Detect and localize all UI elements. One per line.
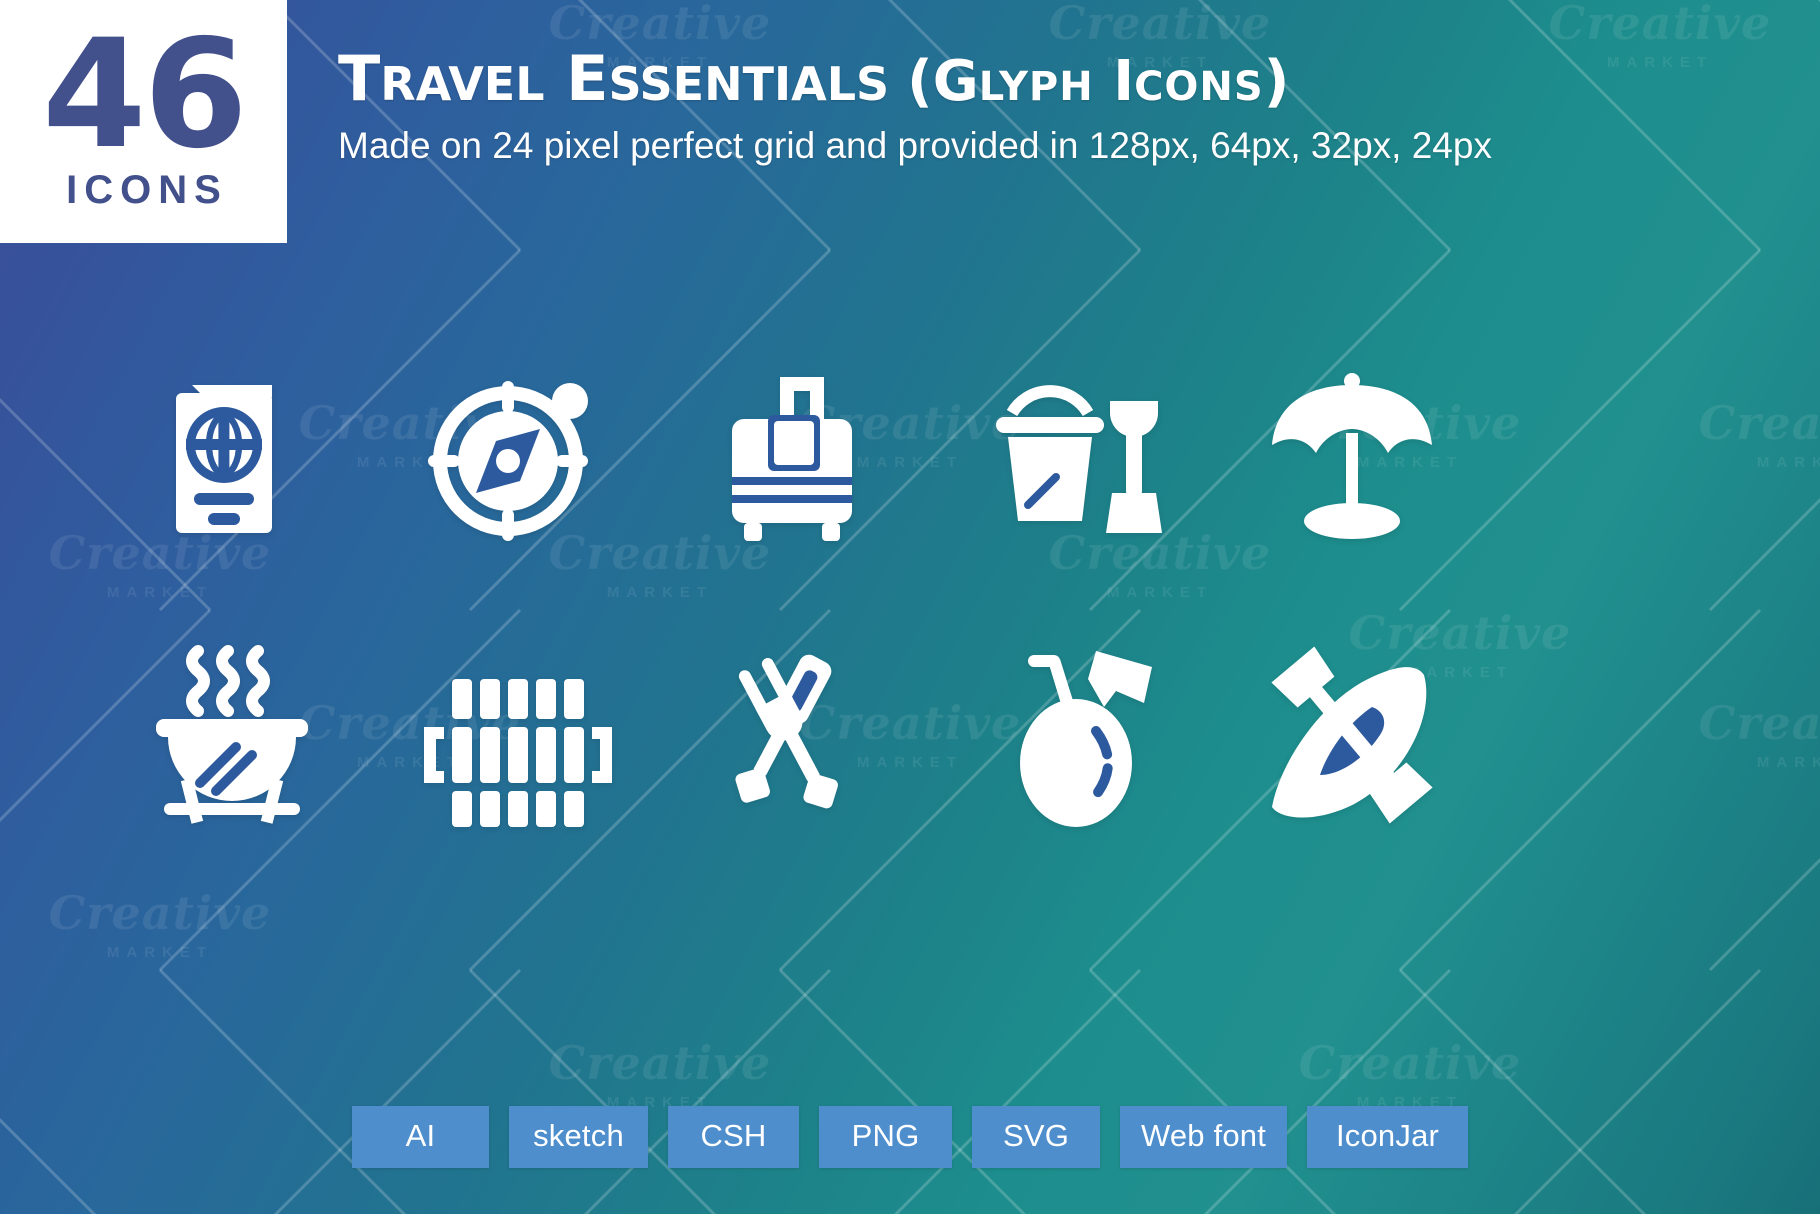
compass-icon [412,357,612,557]
title-ravel: RAVEL [380,57,544,111]
luggage-icon [692,357,892,557]
paren-cons: CONS [1134,64,1264,110]
watermark: Creative MARKET [1660,400,1820,470]
icon-cell [932,318,1212,596]
passport-icon [132,357,332,557]
paren-close: ) [1264,49,1290,114]
title-parenthetical: (GLYPH ICONS) [907,49,1289,114]
grill-grate-icon [412,635,612,835]
watermark: Creative MARKET [10,890,310,960]
page-title: TRAVEL ESSENTIALS(GLYPH ICONS) [338,48,1492,110]
format-badge-ai[interactable]: AI [352,1106,489,1168]
watermark-top: Creative [510,1040,810,1086]
title-ssentials: SSENTIALS [608,57,889,111]
bbq-tools-icon [692,635,892,835]
icon-cell [652,318,932,596]
icon-cell [1212,596,1492,874]
paren-i: I [1113,49,1134,114]
watermark-top: Creative [510,0,810,46]
format-badge-png[interactable]: PNG [819,1106,952,1168]
icon-count-badge: 46 ICONS [0,0,287,243]
paren-lyph: LYPH [979,64,1094,110]
watermark-bottom: MARKET [1510,55,1810,70]
watermark: Creative MARKET [1260,1040,1560,1110]
watermark-top: Creative [1510,0,1810,46]
watermark-top: Creative [1660,400,1820,446]
title-t: T [338,42,380,115]
header: TRAVEL ESSENTIALS(GLYPH ICONS) Made on 2… [338,48,1492,167]
paren-open: ( [907,49,933,114]
beach-umbrella-icon [1252,357,1452,557]
kayak-icon [1252,635,1452,835]
watermark-bottom: MARKET [10,945,310,960]
watermark-top: Creative [10,890,310,936]
format-badge-csh[interactable]: CSH [668,1106,799,1168]
format-badge-svg[interactable]: SVG [972,1106,1100,1168]
icon-cell [92,596,372,874]
sand-bucket-shovel-icon [972,357,1172,557]
page-subtitle: Made on 24 pixel perfect grid and provid… [338,126,1492,167]
icon-count-number: 46 [42,31,245,160]
watermark-top: Creative [1260,1040,1560,1086]
poster-canvas: Creative MARKET Creative MARKET Creative… [0,0,1820,1214]
watermark-bottom: MARKET [1660,455,1820,470]
format-badge-iconjar[interactable]: IconJar [1307,1106,1468,1168]
coconut-drink-icon [972,635,1172,835]
format-badge-sketch[interactable]: sketch [509,1106,648,1168]
title-e: E [566,42,608,115]
icon-grid [92,318,1492,874]
watermark-top: Creative [1010,0,1310,46]
icon-cell [932,596,1212,874]
icon-cell [92,318,372,596]
watermark: Creative MARKET [1660,700,1820,770]
format-badge-webfont[interactable]: Web font [1120,1106,1287,1168]
format-badge-row: AI sketch CSH PNG SVG Web font IconJar [0,1106,1820,1168]
watermark-top: Creative [1660,700,1820,746]
icon-cell [652,596,932,874]
icon-cell [372,596,652,874]
icon-cell [372,318,652,596]
watermark: Creative MARKET [510,1040,810,1110]
icon-cell [1212,318,1492,596]
bbq-grill-icon [132,635,332,835]
watermark-bottom: MARKET [1660,755,1820,770]
paren-g: G [933,49,979,114]
watermark: Creative MARKET [1510,0,1810,70]
icon-count-label: ICONS [59,168,228,213]
